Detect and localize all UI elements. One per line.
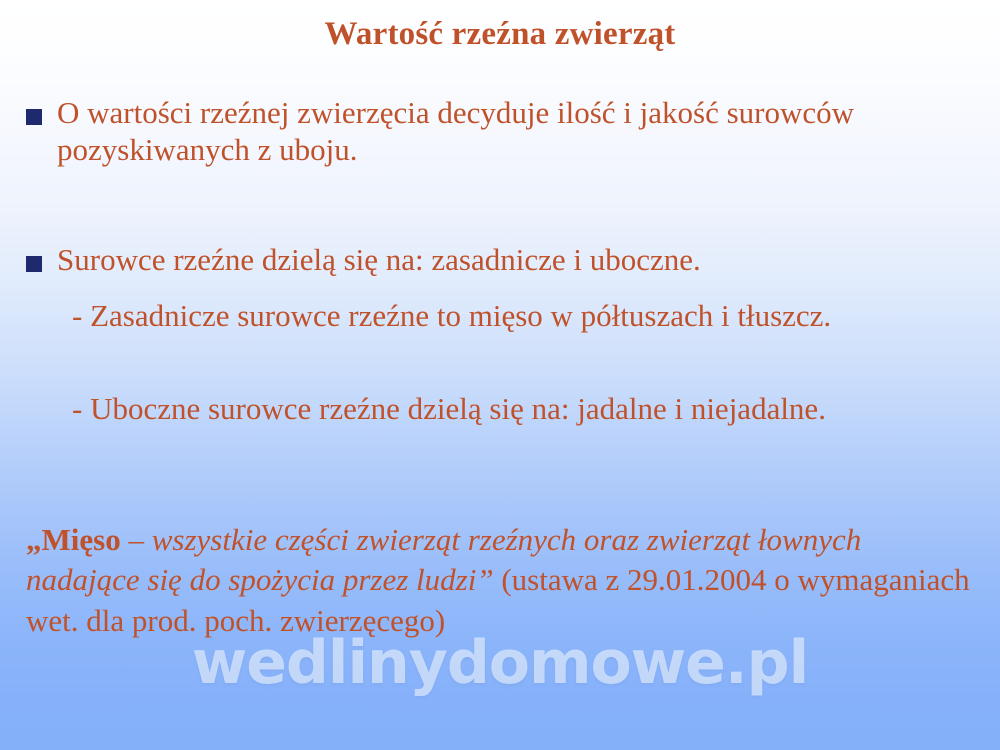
quote-dash: – bbox=[121, 522, 152, 557]
bullet-item-2-label: Surowce rzeźne dzielą się na: zasadnicze… bbox=[57, 242, 978, 279]
square-bullet-icon bbox=[26, 109, 42, 125]
page-title: Wartość rzeźna zwierząt bbox=[0, 16, 1000, 53]
sub-item-1-label: - Zasadnicze surowce rzeźne to mięso w p… bbox=[72, 298, 978, 335]
sub-item-1: - Zasadnicze surowce rzeźne to mięso w p… bbox=[26, 292, 978, 335]
bullet-item-1-label: O wartości rzeźnej zwierzęcia decyduje i… bbox=[57, 95, 978, 168]
bullet-item-2: Surowce rzeźne dzielą się na: zasadnicze… bbox=[26, 242, 978, 279]
bullet-row: Surowce rzeźne dzielą się na: zasadnicze… bbox=[26, 242, 978, 279]
bullet-item-1: O wartości rzeźnej zwierzęcia decyduje i… bbox=[26, 95, 978, 168]
sub-item-2: - Uboczne surowce rzeźne dzielą się na: … bbox=[26, 385, 978, 428]
square-bullet-icon bbox=[26, 256, 42, 272]
quote-term: „Mięso bbox=[26, 522, 121, 557]
presentation-slide: wedlinydomowe.pl Wartość rzeźna zwierząt… bbox=[0, 0, 1000, 750]
slide-content: Wartość rzeźna zwierząt O wartości rzeźn… bbox=[0, 0, 1000, 750]
sub-item-2-label: - Uboczne surowce rzeźne dzielą się na: … bbox=[72, 391, 978, 428]
definition-quote: „Mięso – wszystkie części zwierząt rzeźn… bbox=[26, 520, 978, 641]
bullet-row: O wartości rzeźnej zwierzęcia decyduje i… bbox=[26, 95, 978, 168]
